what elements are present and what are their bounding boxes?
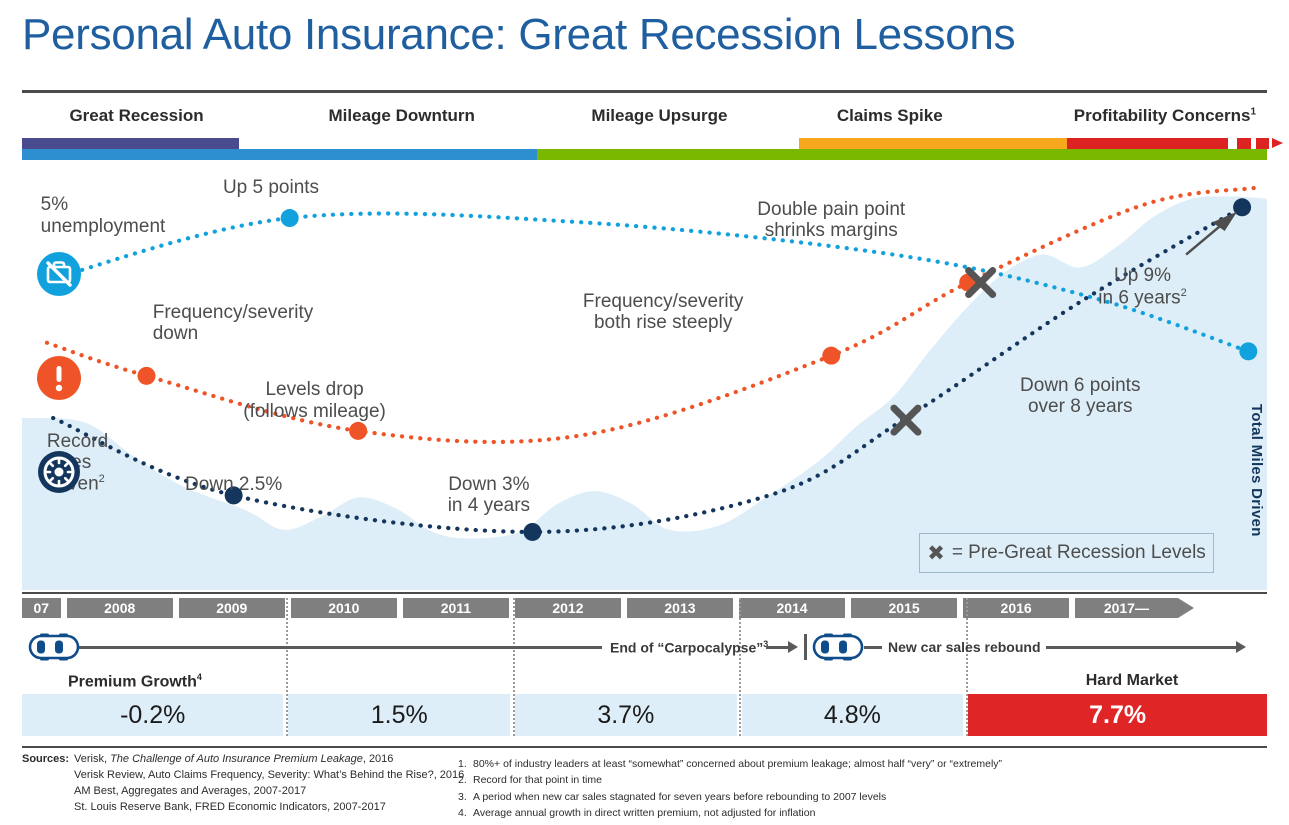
timeline-year-2008: 2008	[67, 598, 173, 618]
phase-label-text: Mileage Upsurge	[591, 106, 727, 125]
annotation-line: in 4 years	[448, 495, 530, 516]
annotation-line: Down 3%	[448, 474, 530, 495]
timeline-year-2009: 2009	[179, 598, 285, 618]
phase-bar-upper-red	[1067, 138, 1229, 149]
chart-legend: ✖ = Pre-Great Recession Levels	[919, 533, 1214, 573]
footnote-number: 2.	[458, 772, 473, 788]
chart-canvas: 5%unemploymentUp 5 pointsFrequency/sever…	[22, 160, 1267, 590]
annotation-line: Up 5 points	[223, 177, 319, 198]
footnote-number: 4.	[458, 805, 473, 821]
x-marker-icon: ✖	[927, 543, 945, 564]
source-item-3: St. Louis Reserve Bank, FRED Economic In…	[74, 800, 464, 816]
footnote-3: 3.A period when new car sales stagnated …	[458, 789, 1002, 805]
briefcase-slash-icon	[37, 252, 81, 296]
y-axis-label: Total Miles Driven	[1248, 404, 1265, 537]
timeline-year-2014: 2014	[739, 598, 845, 618]
footnote-4: 4.Average annual growth in direct writte…	[458, 805, 1002, 821]
timeline-year-2011: 2011	[403, 598, 509, 618]
data-point-frequency-severity-2	[822, 347, 840, 365]
annotation-line: Record	[47, 431, 108, 452]
annotation-double-pain: Double pain pointshrinks margins	[757, 199, 905, 242]
premium-growth-cell-1: 1.5%	[288, 694, 510, 736]
annotation-freq-sev-rise: Frequency/severityboth rise steeply	[583, 291, 744, 334]
timeline-year-2016: 2016	[963, 598, 1069, 618]
annotation-footnote-marker: 2	[99, 473, 105, 485]
timeline-year-2010: 2010	[291, 598, 397, 618]
annotation-unemployment: 5%unemployment	[41, 194, 166, 237]
annotation-up-9-in-6: Up 9%in 6 years2	[1098, 265, 1187, 308]
footnote-1: 1.80%+ of industry leaders at least “som…	[458, 756, 1002, 772]
footnote-2: 2.Record for that point in time	[458, 772, 1002, 788]
phase-header-divider	[22, 90, 1267, 93]
timeline-divider	[22, 592, 1267, 594]
annotation-line: shrinks margins	[757, 220, 905, 241]
annotation-line: unemployment	[41, 216, 166, 237]
timeline-year-2015: 2015	[851, 598, 957, 618]
premium-growth-label: Premium Growth4	[68, 672, 202, 691]
annotation-up-5-points: Up 5 points	[223, 177, 319, 198]
car-icon-left	[28, 633, 80, 661]
sources-list: Verisk, The Challenge of Auto Insurance …	[74, 752, 464, 816]
annotation-line: Up 9%	[1098, 265, 1187, 286]
data-point-frequency-severity-0	[138, 367, 156, 385]
phase-color-bar	[22, 138, 1267, 160]
annotation-line: Down 2.5%	[185, 474, 282, 495]
phase-bar-red-dash-1	[1256, 138, 1270, 149]
phase-bar-upper-orange	[799, 138, 1067, 149]
annotation-down-2-5: Down 2.5%	[185, 474, 282, 495]
footnotes-list: 1.80%+ of industry leaders at least “som…	[458, 756, 1002, 821]
alert-exclamation-icon	[37, 356, 81, 400]
footnote-text: Record for that point in time	[473, 774, 602, 786]
rebound-line	[1046, 646, 1236, 649]
timeline-tick-2014	[804, 634, 807, 660]
premium-growth-cell-3: 4.8%	[742, 694, 964, 736]
sources-label: Sources:	[22, 752, 74, 768]
source-title-italic: The Challenge of Auto Insurance Premium …	[110, 753, 363, 765]
rebound-label: New car sales rebound	[888, 639, 1041, 655]
footnote-number: 3.	[458, 789, 473, 805]
phase-label-0: Great Recession	[69, 106, 203, 126]
phase-label-4: Profitability Concerns1	[1074, 106, 1256, 126]
annotation-footnote-marker: 2	[1181, 287, 1187, 299]
timeline-forward-arrow-icon	[1178, 598, 1194, 618]
timeline-year-label: 2017—	[1075, 598, 1177, 618]
phase-bar-red-dash-0	[1237, 138, 1251, 149]
timeline-year-2012: 2012	[515, 598, 621, 618]
annotation-line: 5%	[41, 194, 166, 215]
data-point-frequency-severity-1	[349, 422, 367, 440]
timeline-year-2017: 2017—	[1075, 598, 1193, 618]
sources-block: Sources:Verisk, The Challenge of Auto In…	[22, 752, 464, 816]
timeline-year-2013: 2013	[627, 598, 733, 618]
phase-bar-lower-green	[537, 149, 1267, 160]
footnote-text: 80%+ of industry leaders at least “somew…	[473, 758, 1002, 770]
phase-label-text: Claims Spike	[837, 106, 943, 125]
annotation-levels-drop: Levels drop(follows mileage)	[243, 379, 386, 422]
data-point-total-miles-driven-1	[523, 523, 541, 541]
annotation-down-6-over-8: Down 6 pointsover 8 years	[1020, 375, 1140, 418]
annotation-line: Frequency/severity	[583, 291, 744, 312]
footnote-text: A period when new car sales stagnated fo…	[473, 791, 886, 803]
page-title: Personal Auto Insurance: Great Recession…	[22, 10, 1015, 60]
premium-growth-row: -0.2%1.5%3.7%4.8%7.7%	[22, 694, 1267, 736]
carpocalypse-line	[77, 646, 602, 649]
phase-label-text: Great Recession	[69, 106, 203, 125]
phase-label-3: Claims Spike	[837, 106, 943, 126]
timeline-events-band: End of “Carpocalypse”3	[22, 626, 1267, 670]
footer-divider	[22, 746, 1267, 748]
annotation-line: Down 6 points	[1020, 375, 1140, 396]
timeline-year-row: 0720082009201020112012201320142015201620…	[22, 598, 1267, 618]
timeline-year-07: 07	[22, 598, 61, 618]
phase-bar-lower-blue	[22, 149, 537, 160]
carpocalypse-arrow-line	[766, 646, 788, 649]
footnote-number: 1.	[458, 756, 473, 772]
premium-growth-cell-4: 7.7%	[968, 694, 1267, 736]
footnote-text: Average annual growth in direct written …	[473, 807, 815, 819]
car-icon-right	[812, 633, 864, 661]
annotation-line: Frequency/severity	[153, 302, 314, 323]
annotation-line: over 8 years	[1020, 396, 1140, 417]
premium-growth-cell-2: 3.7%	[515, 694, 737, 736]
rebound-arrowhead	[1236, 641, 1246, 653]
source-item-2: AM Best, Aggregates and Averages, 2007-2…	[74, 784, 464, 800]
legend-text: = Pre-Great Recession Levels	[952, 542, 1206, 564]
annotation-line: both rise steeply	[583, 312, 744, 333]
premium-growth-cell-0: -0.2%	[22, 694, 283, 736]
data-point-unemployment-1	[1239, 342, 1257, 360]
phase-label-footnote-marker: 1	[1250, 106, 1256, 117]
carpocalypse-arrowhead	[788, 641, 798, 653]
rebound-connector	[864, 646, 882, 649]
source-item-0: Verisk, The Challenge of Auto Insurance …	[74, 752, 464, 768]
data-point-unemployment-0	[281, 209, 299, 227]
annotation-line: Levels drop	[243, 379, 386, 400]
hard-market-label: Hard Market	[1016, 672, 1248, 690]
carpocalypse-label: End of “Carpocalypse”3	[610, 639, 768, 656]
source-item-1: Verisk Review, Auto Claims Frequency, Se…	[74, 768, 464, 784]
annotation-line: in 6 years2	[1098, 287, 1187, 309]
annotation-freq-sev-down: Frequency/severitydown	[153, 302, 314, 345]
phase-label-2: Mileage Upsurge	[591, 106, 727, 126]
annotation-line: down	[153, 323, 314, 344]
phase-bar-upper-purple	[22, 138, 239, 149]
annotation-line: (follows mileage)	[243, 401, 386, 422]
infographic-root: Personal Auto Insurance: Great Recession…	[0, 0, 1289, 825]
phase-label-1: Mileage Downturn	[329, 106, 475, 126]
steering-wheel-icon	[37, 450, 81, 494]
phase-label-text: Profitability Concerns	[1074, 106, 1251, 125]
phase-label-text: Mileage Downturn	[329, 106, 475, 125]
phase-bar-arrow-icon	[1272, 138, 1283, 148]
annotation-line: Double pain point	[757, 199, 905, 220]
annotation-down-3-in-4: Down 3%in 4 years	[448, 474, 530, 517]
